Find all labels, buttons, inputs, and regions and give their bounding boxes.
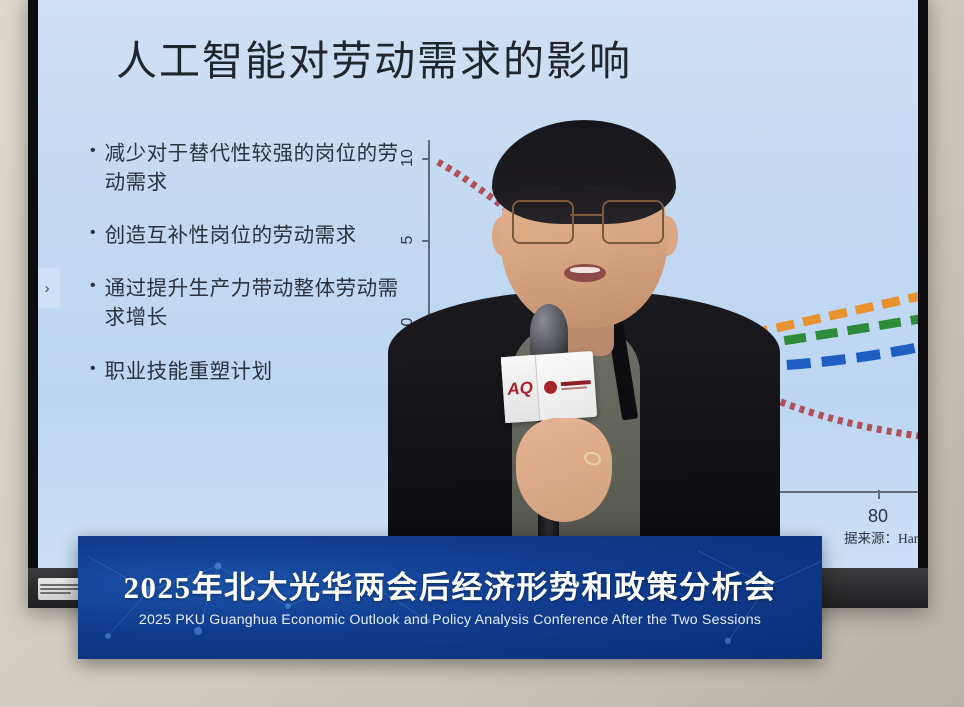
slide-title: 人工智能对劳动需求的影响: [116, 27, 632, 87]
banner-title-chinese: 2025年北大光华两会后经济形势和政策分析会: [78, 562, 822, 607]
next-slide-arrow-icon[interactable]: ›: [38, 268, 60, 308]
microphone-head: [530, 304, 568, 360]
microphone-flag-cube: AQ: [501, 351, 597, 423]
list-item: • 减少对于替代性较强的岗位的劳动需求: [90, 140, 408, 198]
conference-banner: 2025年北大光华两会后经济形势和政策分析会 2025 PKU Guanghua…: [78, 536, 822, 659]
bullet-marker-icon: •: [90, 358, 96, 387]
bullet-marker-icon: •: [90, 222, 96, 251]
banner-title-english: 2025 PKU Guanghua Economic Outlook and P…: [78, 612, 822, 628]
list-item: • 通过提升生产力带动整体劳动需求增长: [90, 275, 408, 333]
mic-logo-right-face: [536, 351, 597, 421]
bullet-marker-icon: •: [90, 275, 96, 333]
lens-left: [512, 200, 574, 244]
broadcaster-seal-icon: [544, 380, 558, 394]
broadcaster-name-mark: [561, 380, 591, 390]
slide-bullet-list: • 减少对于替代性较强的岗位的劳动需求 • 创造互补性岗位的劳动需求 • 通过提…: [90, 140, 408, 411]
photo-scene: › 人工智能对劳动需求的影响 • 减少对于替代性较强的岗位的劳动需求 • 创造互…: [0, 0, 964, 707]
mic-logo-left-face: AQ: [501, 355, 541, 423]
list-item: • 创造互补性岗位的劳动需求: [90, 222, 408, 251]
bullet-text: 职业技能重塑计划: [105, 358, 273, 387]
eyeglasses-icon: [510, 200, 662, 240]
speaker-mouth: [564, 264, 606, 282]
bullet-text: 减少对于替代性较强的岗位的劳动需求: [105, 140, 408, 198]
speaker-hand: [516, 418, 612, 522]
bullet-text: 通过提升生产力带动整体劳动需求增长: [105, 275, 408, 333]
speaker-person: AQ: [388, 108, 780, 560]
mic-left-logo-text: AQ: [507, 378, 534, 400]
chart-source-note: 据来源：Hampole: [844, 527, 918, 547]
list-item: • 职业技能重塑计划: [90, 358, 408, 387]
lens-right: [602, 200, 664, 244]
bullet-marker-icon: •: [90, 140, 96, 198]
bullet-text: 创造互补性岗位的劳动需求: [105, 222, 357, 251]
glasses-bridge: [570, 214, 602, 216]
